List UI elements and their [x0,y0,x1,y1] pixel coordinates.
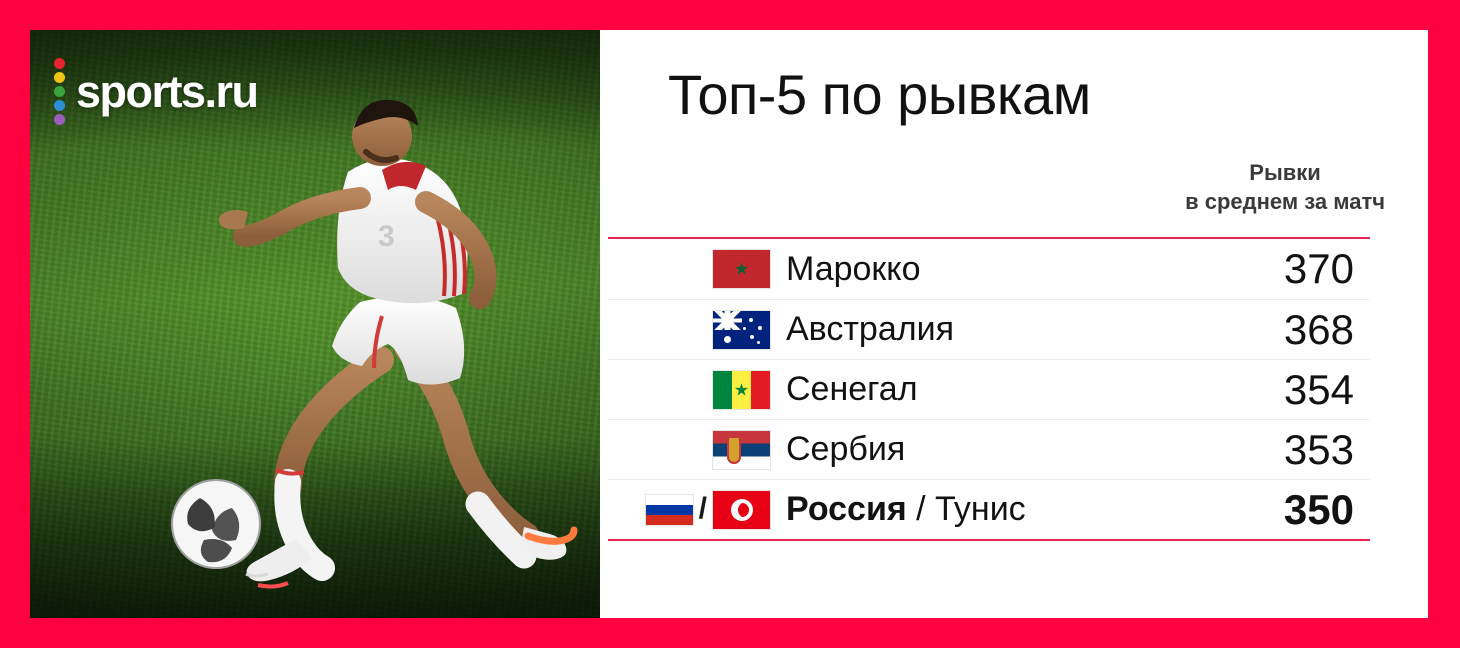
column-header: Рывки в среднем за матч [1185,158,1385,216]
star-icon [750,335,754,339]
table-body: ★Марокко370Австралия368★Сенегал354Сербия… [608,239,1370,539]
sprint-value: 370 [1180,245,1370,293]
star-icon: ★ [734,262,749,277]
star-icon [757,341,760,344]
star-icon: ★ [734,382,749,397]
logo-dot-purple [54,114,65,125]
logo-dot-green [54,86,65,97]
flag-icon-rs [713,431,770,469]
flag-icon-ma: ★ [713,250,770,288]
star-icon [758,326,762,330]
table-row: ★Марокко370 [608,239,1370,299]
column-header-line2: в среднем за матч [1185,187,1385,216]
sprint-value: 353 [1180,426,1370,474]
country-name: Сенегал [786,370,1180,409]
infographic-card: 3 [30,30,1428,618]
flag-cell [608,431,786,469]
flag-icon-au [713,311,770,349]
sprint-value: 368 [1180,306,1370,354]
flag-separator: / [699,494,707,524]
country-name: Сербия [786,430,1180,469]
table-bottom-rule [608,539,1370,541]
infographic-root: 3 [0,0,1460,648]
star-icon [724,336,731,343]
sprint-value: 354 [1180,366,1370,414]
table-row: Сербия353 [608,419,1370,479]
table-row: Австралия368 [608,299,1370,359]
country-name: Россия / Тунис [786,490,1180,529]
table-row: ★Сенегал354 [608,359,1370,419]
flag-cell: ★ [608,250,786,288]
logo-dot-yellow [54,72,65,83]
stats-panel: Топ-5 по рывкам Рывки в среднем за матч … [600,30,1428,618]
union-jack-icon [713,311,742,330]
country-name: Австралия [786,310,1180,349]
page-title: Топ-5 по рывкам [668,62,1091,127]
sprint-value: 350 [1180,486,1370,534]
table-row: /★Россия / Тунис350 [608,479,1370,539]
svg-text:3: 3 [378,220,395,253]
logo-dot-blue [54,100,65,111]
flag-icon-sn: ★ [713,371,770,409]
flag-cell: /★ [608,491,786,529]
coat-of-arms-icon [727,436,741,464]
stats-table: ★Марокко370Австралия368★Сенегал354Сербия… [608,237,1370,541]
country-name: Марокко [786,250,1180,289]
logo-dots-icon [54,58,65,125]
flag-cell: ★ [608,371,786,409]
player-photo: 3 [30,30,600,618]
football-ball [170,478,262,570]
logo-dot-red [54,58,65,69]
flag-icon-tn: ★ [713,491,770,529]
star-icon [743,327,746,330]
star-icon: ★ [740,505,749,515]
logo-wordmark: sports.ru [76,69,258,114]
flag-cell [608,311,786,349]
sports-ru-logo[interactable]: sports.ru [54,58,258,125]
flag-icon-ru [646,495,693,525]
country-name-primary: Россия [786,490,907,528]
column-header-line1: Рывки [1185,158,1385,187]
star-icon [749,318,753,322]
country-name-secondary: / Тунис [907,490,1026,528]
